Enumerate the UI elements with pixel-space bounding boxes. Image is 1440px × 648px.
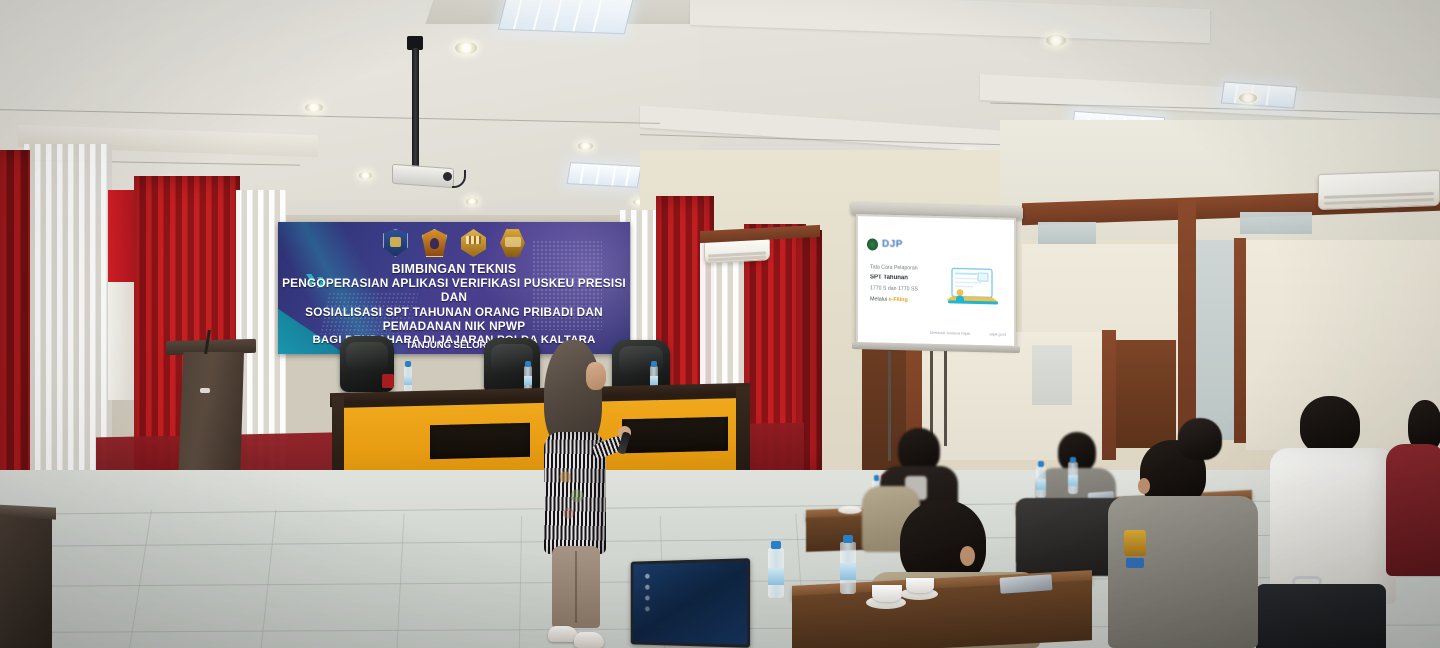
slide-line-4: Melalui e-Filing (870, 296, 908, 303)
projector-lens-1 (443, 172, 452, 181)
police-shoulder-patch (1124, 530, 1146, 556)
djp-hex-logo-icon (500, 229, 525, 257)
downlight-4 (1239, 93, 1257, 103)
djp-wordmark: DJP (882, 239, 903, 251)
downlight-3 (1046, 35, 1066, 46)
kemenkeu-logo-icon (461, 229, 486, 257)
head-table-inset-panel-2 (622, 417, 728, 454)
presenter-with-microphone (534, 340, 630, 648)
wall-frame-post (1178, 200, 1196, 440)
presenter-shoe-right (574, 632, 604, 648)
djp-emblem-icon (867, 238, 878, 250)
slide-line-4-accent: e-Filing (889, 297, 908, 303)
wood-wall-section (1116, 340, 1176, 448)
slide-footer-left: Direktorat Jenderal Pajak (930, 331, 970, 336)
event-banner: BIMBINGAN TEKNIS PENGOPERASIAN APLIKASI … (278, 222, 630, 354)
back-wall-glass (1032, 345, 1072, 405)
ceiling-band-3 (640, 105, 1060, 156)
banner-line-3: SOSIALISASI SPT TAHUNAN ORANG PRIBADI DA… (278, 305, 630, 333)
ceiling-band-2 (980, 74, 1440, 124)
slide-line-1: Tata Cara Pelaporan (870, 264, 918, 271)
downlight-8 (466, 198, 478, 205)
projector-pole-1 (412, 48, 419, 168)
banner-line-2: PENGOPERASIAN APLIKASI VERIFIKASI PUSKEU… (278, 277, 630, 305)
foreground-cabinet (0, 512, 52, 648)
red-cup-headtable (382, 374, 394, 388)
presenter-laptop (631, 558, 750, 648)
slide-line-2: SPT Tahunan (870, 274, 908, 281)
water-bottle-foreground-1 (768, 548, 784, 598)
slide-footer-right: pajak.go.id (990, 332, 1006, 336)
wall-glass-panel-2 (1240, 212, 1312, 234)
police-rank-insignia (1126, 558, 1144, 568)
wall-frame-post-2 (1234, 238, 1246, 443)
slide-illustration (942, 264, 1004, 312)
water-bottle-headtable-1 (404, 366, 412, 392)
wall-glass-panel-3 (1196, 240, 1234, 440)
head-table-inset-panel-1 (430, 423, 530, 459)
downlight-7 (359, 172, 372, 179)
projection-screen: DJP Tata Cara Pelaporan SPT Tahunan 1770… (856, 214, 1016, 348)
downlight-5 (578, 142, 593, 150)
ceiling-troffer-light-1 (498, 0, 634, 34)
downlight-1 (455, 42, 477, 54)
ceiling-band-1 (690, 0, 1210, 43)
air-conditioner-right (1318, 170, 1440, 210)
presenter-face (586, 362, 606, 390)
wall-glass-panel-1 (1038, 222, 1096, 244)
water-bottle-right-2 (1068, 462, 1078, 494)
water-bottle-foreground-2 (840, 542, 856, 594)
ceiling-troffer-light-2 (566, 162, 641, 188)
head-table-right-edge (736, 386, 750, 470)
slide-line-3: 1770 S dan 1770 SS (870, 285, 918, 292)
podium-body (178, 352, 244, 484)
presenter-trousers (552, 546, 600, 628)
saucer-mid (838, 506, 862, 514)
wall-divider-post (1102, 330, 1116, 460)
seminar-room-photo: DJP Tata Cara Pelaporan SPT Tahunan 1770… (0, 0, 1440, 648)
banner-logo-row (278, 229, 630, 257)
podium-plaque (200, 388, 210, 393)
water-bottle-right-1 (1036, 466, 1046, 498)
cup-foreground-1 (872, 585, 902, 602)
screen-stand-leg-left (888, 351, 891, 461)
screen-stand-leg-right (944, 351, 947, 446)
attendee-trousers-white-polo (1256, 584, 1386, 648)
downlight-2 (305, 103, 323, 112)
cup-foreground-2 (906, 578, 934, 593)
banner-line-1: BIMBINGAN TEKNIS (278, 262, 630, 277)
presentation-slide: DJP Tata Cara Pelaporan SPT Tahunan 1770… (858, 216, 1014, 346)
polda-kaltara-logo-icon (422, 229, 447, 257)
polri-badge-logo-icon (383, 229, 408, 257)
slide-line-4-prefix: Melalui (870, 296, 889, 302)
banner-text-block: BIMBINGAN TEKNIS PENGOPERASIAN APLIKASI … (278, 262, 630, 347)
